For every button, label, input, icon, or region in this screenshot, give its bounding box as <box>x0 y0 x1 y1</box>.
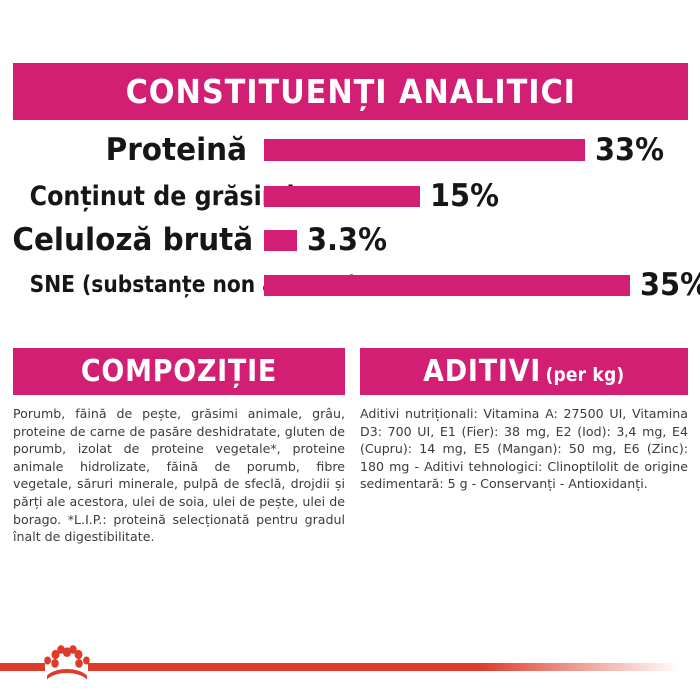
chart-value-protein: 33% <box>595 135 664 166</box>
chart-label-nfe: SNE (substanțe non azotate) <box>30 274 247 297</box>
composition-banner: COMPOZIȚIE <box>13 348 345 395</box>
analytical-constituents-banner: CONSTITUENȚI ANALITICI <box>13 63 688 120</box>
chart-row: Conținut de grăsimi 15% <box>0 174 700 218</box>
chart-row: SNE (substanțe non azotate) 35% <box>0 262 700 308</box>
additives-subtitle: (per kg) <box>546 364 625 386</box>
chart-bar-wrap: 33% <box>264 135 700 166</box>
chart-bar-nfe <box>264 275 630 296</box>
composition-body-text: Porumb, făină de pește, grăsimi animale,… <box>13 405 345 546</box>
chart-bar-wrap: 15% <box>264 181 700 212</box>
analytical-constituents-chart: Proteină 33% Conținut de grăsimi 15% Cel… <box>0 126 700 316</box>
chart-value-nfe: 35% <box>640 270 700 301</box>
footer-rule-left <box>0 663 45 671</box>
additives-body-text: Aditivi nutriționali: Vitamina A: 27500 … <box>360 405 688 493</box>
chart-label-crude-fibre: Celuloză brută <box>12 225 247 256</box>
chart-label-protein: Proteină <box>12 135 247 166</box>
footer-brand-bar <box>0 640 700 700</box>
additives-title: ADITIVI <box>423 354 541 389</box>
chart-bar-fat-content <box>264 186 420 207</box>
analytical-constituents-title: CONSTITUENȚI ANALITICI <box>125 72 575 111</box>
additives-title-group: ADITIVI (per kg) <box>423 354 624 389</box>
chart-label-fat-content: Conținut de grăsimi <box>30 183 247 210</box>
product-nutrition-panel: CONSTITUENȚI ANALITICI Proteină 33% Conț… <box>0 0 700 700</box>
chart-row: Proteină 33% <box>0 126 700 174</box>
chart-row: Celuloză brută 3.3% <box>0 218 700 262</box>
royal-canin-crown-icon <box>44 644 90 684</box>
chart-bar-crude-fibre <box>264 230 297 251</box>
composition-title: COMPOZIȚIE <box>81 354 277 389</box>
chart-bar-wrap: 35% <box>264 270 700 301</box>
footer-rule-right <box>88 663 680 671</box>
chart-value-fat-content: 15% <box>430 181 499 212</box>
chart-bar-wrap: 3.3% <box>264 225 700 256</box>
additives-banner: ADITIVI (per kg) <box>360 348 688 395</box>
chart-value-crude-fibre: 3.3% <box>307 225 387 256</box>
chart-bar-protein <box>264 139 585 161</box>
